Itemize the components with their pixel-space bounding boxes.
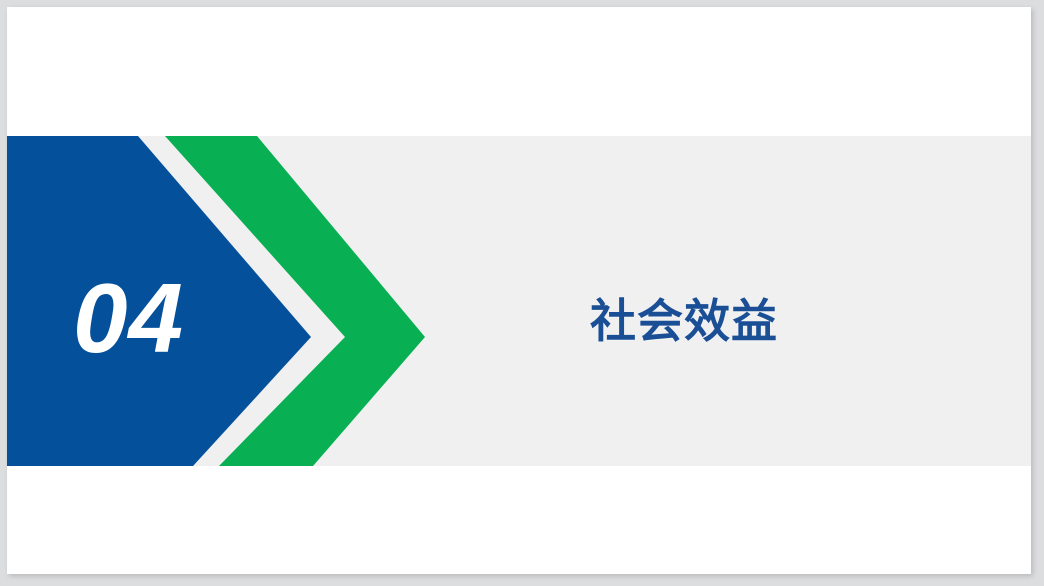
section-title: 社会效益 [590, 296, 778, 348]
section-number: 04 [73, 269, 233, 367]
slide-viewer: 04 社会效益 [0, 0, 1044, 586]
slide-canvas: 04 社会效益 [7, 7, 1031, 574]
